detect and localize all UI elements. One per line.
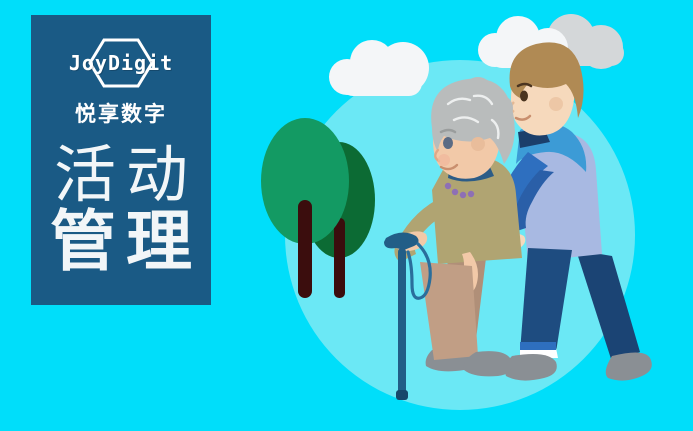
cane-shaft: [398, 248, 406, 396]
youth-far-shoe: [606, 352, 652, 380]
cloud-left: [329, 40, 429, 96]
logo-block: JoyDigit 悦享数字: [31, 37, 211, 128]
page-title-line-2: 管理: [31, 208, 211, 275]
youth-eye: [520, 91, 528, 102]
elder-eye: [443, 137, 453, 149]
elder-ear: [471, 137, 485, 151]
elder-cheek: [438, 154, 450, 166]
cane-tip: [396, 390, 408, 400]
page-title-line-1: 活动: [31, 143, 211, 206]
youth-ear: [549, 97, 563, 111]
logo-mark: JoyDigit: [51, 37, 191, 89]
logo-chinese-name: 悦享数字: [31, 98, 211, 128]
youth-cuff-band: [520, 342, 556, 350]
logo-wordmark: JoyDigit: [51, 48, 191, 78]
brand-panel: JoyDigit 悦享数字 活动 管理: [31, 15, 211, 305]
page-title: 活动 管理: [31, 143, 211, 276]
banner-canvas: JoyDigit 悦享数字 活动 管理: [0, 0, 693, 431]
